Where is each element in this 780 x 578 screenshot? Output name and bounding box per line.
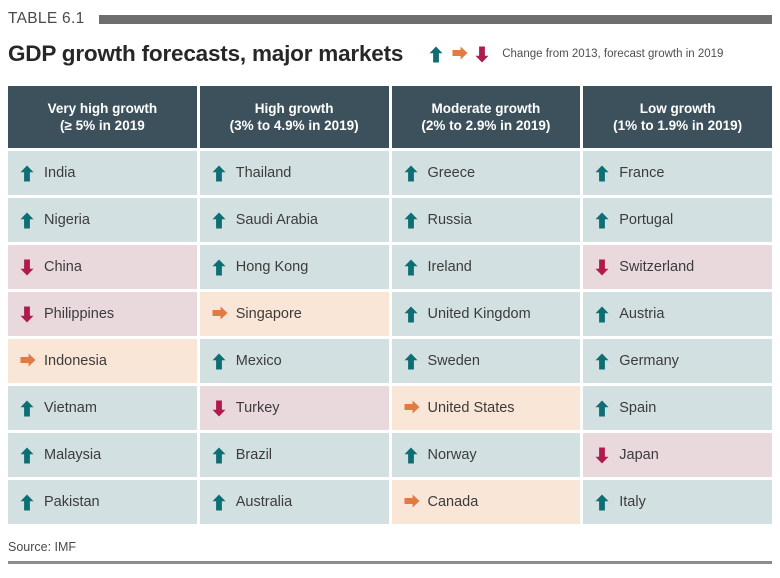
up-arrow-icon <box>404 165 418 182</box>
table-row[interactable]: United States <box>392 386 581 430</box>
country-label: Canada <box>428 494 479 510</box>
legend: Change from 2013, forecast growth in 201… <box>429 46 723 63</box>
right-arrow-icon <box>404 400 418 417</box>
column-cells: ThailandSaudi ArabiaHong KongSingaporeMe… <box>200 151 389 524</box>
column-cells: GreeceRussiaIrelandUnited KingdomSwedenU… <box>392 151 581 524</box>
country-label: Thailand <box>236 165 292 181</box>
table-row[interactable]: Austria <box>583 292 772 336</box>
table-row[interactable]: Sweden <box>392 339 581 383</box>
table-row[interactable]: Portugal <box>583 198 772 242</box>
table-row[interactable]: Japan <box>583 433 772 477</box>
table-row[interactable]: Russia <box>392 198 581 242</box>
up-arrow-icon <box>595 306 609 323</box>
table-number-rule <box>99 15 772 24</box>
up-arrow-icon <box>404 212 418 229</box>
table-row[interactable]: Saudi Arabia <box>200 198 389 242</box>
country-label: Austria <box>619 306 664 322</box>
table-column: Moderate growth(2% to 2.9% in 2019)Greec… <box>392 86 581 524</box>
country-label: Mexico <box>236 353 282 369</box>
up-arrow-icon <box>595 494 609 511</box>
table-row[interactable]: Vietnam <box>8 386 197 430</box>
up-arrow-icon <box>595 212 609 229</box>
column-header-subtitle: (1% to 1.9% in 2019) <box>613 117 742 134</box>
column-header: High growth(3% to 4.9% in 2019) <box>200 86 389 148</box>
down-arrow-icon <box>212 400 226 417</box>
country-label: Portugal <box>619 212 673 228</box>
country-label: Philippines <box>44 306 114 322</box>
country-label: Japan <box>619 447 659 463</box>
up-arrow-icon <box>20 165 34 182</box>
source-label: Source: IMF <box>8 540 772 561</box>
right-arrow-icon <box>212 306 226 323</box>
table-row[interactable]: Ireland <box>392 245 581 289</box>
title-row: GDP growth forecasts, major markets Chan… <box>8 34 772 74</box>
up-arrow-icon <box>212 165 226 182</box>
country-label: Pakistan <box>44 494 100 510</box>
country-label: Sweden <box>428 353 480 369</box>
country-label: Norway <box>428 447 477 463</box>
table-row[interactable]: Switzerland <box>583 245 772 289</box>
down-arrow-icon <box>595 447 609 464</box>
country-label: United States <box>428 400 515 416</box>
table-column: High growth(3% to 4.9% in 2019)ThailandS… <box>200 86 389 524</box>
right-arrow-icon <box>20 353 34 370</box>
up-arrow-icon <box>212 447 226 464</box>
table-column: Low growth(1% to 1.9% in 2019)FrancePort… <box>583 86 772 524</box>
right-arrow-icon <box>404 494 418 511</box>
column-header: Very high growth(≥ 5% in 2019 <box>8 86 197 148</box>
source-rule <box>8 561 772 564</box>
table-row[interactable]: Singapore <box>200 292 389 336</box>
down-arrow-icon <box>595 259 609 276</box>
table-page: TABLE 6.1 GDP growth forecasts, major ma… <box>0 0 780 578</box>
table-column: Very high growth(≥ 5% in 2019IndiaNigeri… <box>8 86 197 524</box>
country-label: Ireland <box>428 259 472 275</box>
table-row[interactable]: Canada <box>392 480 581 524</box>
table-row[interactable]: Nigeria <box>8 198 197 242</box>
country-label: Singapore <box>236 306 302 322</box>
up-arrow-icon <box>20 447 34 464</box>
table-row[interactable]: Brazil <box>200 433 389 477</box>
table-row[interactable]: Germany <box>583 339 772 383</box>
up-arrow-icon <box>212 494 226 511</box>
country-label: Indonesia <box>44 353 107 369</box>
country-label: Spain <box>619 400 656 416</box>
column-header-title: Low growth <box>640 100 716 117</box>
column-header-subtitle: (3% to 4.9% in 2019) <box>230 117 359 134</box>
up-arrow-icon <box>404 259 418 276</box>
table-row[interactable]: France <box>583 151 772 195</box>
table-row[interactable]: Spain <box>583 386 772 430</box>
column-header: Moderate growth(2% to 2.9% in 2019) <box>392 86 581 148</box>
up-arrow-icon <box>20 212 34 229</box>
table-number-row: TABLE 6.1 <box>8 0 772 32</box>
country-label: Turkey <box>236 400 280 416</box>
table-number: TABLE 6.1 <box>8 10 85 28</box>
country-label: Italy <box>619 494 646 510</box>
table-row[interactable]: Mexico <box>200 339 389 383</box>
up-arrow-icon <box>212 353 226 370</box>
country-label: India <box>44 165 75 181</box>
country-label: Greece <box>428 165 476 181</box>
table-row[interactable]: India <box>8 151 197 195</box>
up-arrow-icon <box>20 400 34 417</box>
right-arrow-icon <box>452 46 466 63</box>
country-label: China <box>44 259 82 275</box>
table-row[interactable]: Australia <box>200 480 389 524</box>
column-header-title: High growth <box>255 100 334 117</box>
down-arrow-icon <box>475 46 489 63</box>
country-label: Switzerland <box>619 259 694 275</box>
country-label: Brazil <box>236 447 272 463</box>
table-row[interactable]: Philippines <box>8 292 197 336</box>
down-arrow-icon <box>20 259 34 276</box>
table-row[interactable]: Hong Kong <box>200 245 389 289</box>
column-cells: IndiaNigeriaChinaPhilippinesIndonesiaVie… <box>8 151 197 524</box>
page-title: GDP growth forecasts, major markets <box>8 41 403 67</box>
table-row[interactable]: Norway <box>392 433 581 477</box>
table-row[interactable]: Greece <box>392 151 581 195</box>
column-header-subtitle: (≥ 5% in 2019 <box>60 117 145 134</box>
source-block: Source: IMF <box>8 540 772 564</box>
up-arrow-icon <box>212 259 226 276</box>
up-arrow-icon <box>404 306 418 323</box>
country-label: Russia <box>428 212 472 228</box>
table-row[interactable]: Indonesia <box>8 339 197 383</box>
up-arrow-icon <box>595 353 609 370</box>
table-row[interactable]: Italy <box>583 480 772 524</box>
up-arrow-icon <box>429 46 443 63</box>
country-label: Nigeria <box>44 212 90 228</box>
up-arrow-icon <box>595 400 609 417</box>
column-cells: FrancePortugalSwitzerlandAustriaGermanyS… <box>583 151 772 524</box>
country-label: Vietnam <box>44 400 97 416</box>
country-label: France <box>619 165 664 181</box>
table-row[interactable]: China <box>8 245 197 289</box>
up-arrow-icon <box>595 165 609 182</box>
column-header-title: Very high growth <box>48 100 158 117</box>
column-header: Low growth(1% to 1.9% in 2019) <box>583 86 772 148</box>
table-row[interactable]: United Kingdom <box>392 292 581 336</box>
country-label: Malaysia <box>44 447 101 463</box>
country-label: Hong Kong <box>236 259 309 275</box>
up-arrow-icon <box>212 212 226 229</box>
country-label: Germany <box>619 353 679 369</box>
legend-label: Change from 2013, forecast growth in 201… <box>502 48 723 60</box>
country-label: Australia <box>236 494 292 510</box>
country-label: Saudi Arabia <box>236 212 318 228</box>
table-row[interactable]: Turkey <box>200 386 389 430</box>
up-arrow-icon <box>20 494 34 511</box>
column-header-subtitle: (2% to 2.9% in 2019) <box>421 117 550 134</box>
table-row[interactable]: Malaysia <box>8 433 197 477</box>
up-arrow-icon <box>404 353 418 370</box>
country-label: United Kingdom <box>428 306 531 322</box>
down-arrow-icon <box>20 306 34 323</box>
table-row[interactable]: Thailand <box>200 151 389 195</box>
table-row[interactable]: Pakistan <box>8 480 197 524</box>
up-arrow-icon <box>404 447 418 464</box>
growth-table: Very high growth(≥ 5% in 2019IndiaNigeri… <box>8 86 772 524</box>
column-header-title: Moderate growth <box>431 100 540 117</box>
